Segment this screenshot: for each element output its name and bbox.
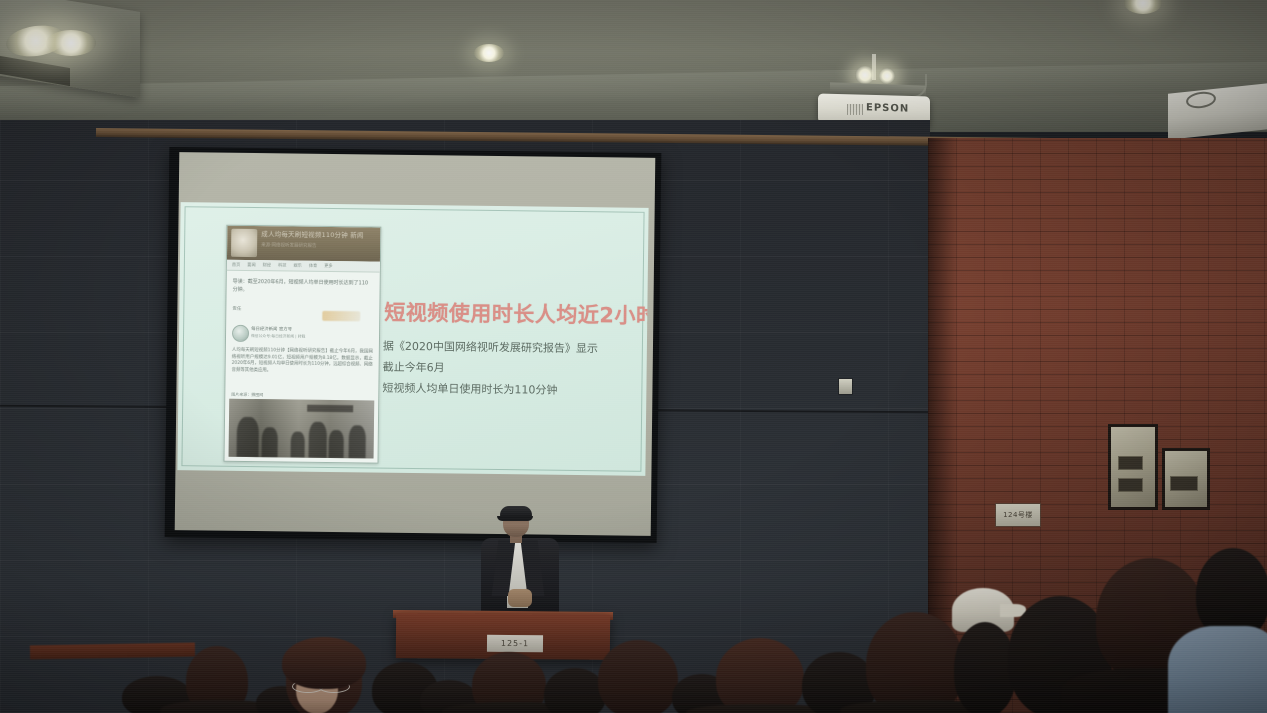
audience-head <box>598 640 678 713</box>
ceiling-light-icon <box>474 44 504 62</box>
news-nav-bar: 首页 要闻 财经 科技 娱乐 体育 更多 <box>227 260 380 273</box>
news-source-avatar-icon <box>232 325 249 342</box>
speaker-hands <box>508 589 532 607</box>
photo-person <box>237 417 259 457</box>
photo-person <box>349 425 366 458</box>
photo-person <box>262 427 278 457</box>
projector-light-icon <box>879 68 895 84</box>
news-nav-item: 首页 <box>232 262 240 268</box>
projector-vent-icon <box>847 104 863 115</box>
presentation-slide: 成人均每天刷短视频110分钟 新闻 来源·网络视听发展研究报告 首页 要闻 财经… <box>177 202 648 476</box>
blue-shirt <box>1168 626 1267 713</box>
audience-head <box>544 668 606 713</box>
seat-back <box>30 643 195 660</box>
news-header-title: 成人均每天刷短视频110分钟 新闻 <box>261 230 377 239</box>
photo-person <box>291 432 305 458</box>
news-lead-text: 导读：截至2020年6月，短视频人均单日使用时长达到了110分钟。 <box>233 278 373 296</box>
news-avatar <box>231 229 257 257</box>
news-header-subtitle: 来源·网络视听发展研究报告 <box>261 243 373 250</box>
news-paragraph: 人均每天刷短视频110分钟【网络视听研究报告】截止今年6月，我国网络视听用户规模… <box>232 348 373 376</box>
projector-light-icon <box>855 66 875 84</box>
news-header-banner: 成人均每天刷短视频110分钟 新闻 来源·网络视听发展研究报告 <box>227 226 380 262</box>
news-photo-caption: 图片来源：摄图网 <box>231 392 263 398</box>
news-signature: 责任 <box>232 306 241 312</box>
news-nav-item: 娱乐 <box>293 263 301 269</box>
wall-socket-plate <box>838 378 853 395</box>
news-article-screenshot: 成人均每天刷短视频110分钟 新闻 来源·网络视听发展研究报告 首页 要闻 财经… <box>223 225 381 464</box>
panel-slot <box>1118 456 1143 470</box>
news-source-block: 每日经济新闻 官方号 微信公众号:每日经济新闻 | 转载 <box>232 325 372 345</box>
news-nav-item: 体育 <box>309 263 317 269</box>
audience-head <box>954 622 1016 713</box>
news-nav-item: 要闻 <box>247 262 255 268</box>
photo-person <box>329 430 344 458</box>
room-number-plaque: 124号楼 <box>995 503 1041 527</box>
audience-head <box>866 612 964 713</box>
podium-number-plate: 125-1 <box>487 635 543 652</box>
news-source-link: 微信公众号:每日经济新闻 | 转载 <box>251 333 305 340</box>
projector-cable <box>895 74 927 98</box>
ceiling-light-icon <box>46 30 96 56</box>
photo-signboard <box>307 405 353 413</box>
news-nav-item: 科技 <box>278 262 286 268</box>
slide-body: 据《2020中国网络视听发展研究报告》显示 截止今年6月 短视频人均单日使用时长… <box>382 336 643 402</box>
news-source-name: 每日经济新闻 官方号 <box>251 326 292 332</box>
slide-body-line: 短视频人均单日使用时长为110分钟 <box>382 378 642 402</box>
news-nav-item: 更多 <box>324 263 332 269</box>
audience-hair <box>282 637 366 689</box>
audience-head <box>716 638 804 713</box>
photo-person <box>309 422 327 458</box>
panel-slot <box>1118 478 1143 492</box>
news-photo <box>229 399 375 459</box>
lecture-hall-photo: EPSON 124号楼 成人均每天刷短视频110分钟 新闻 来源·网络视听发展研… <box>0 0 1267 713</box>
speaker-cap-brim <box>497 516 533 521</box>
panel-slot <box>1170 476 1198 491</box>
news-stamp <box>322 311 360 321</box>
projector-brand-label: EPSON <box>866 102 909 114</box>
slide-title: 短视频使用时长人均近2小时 <box>384 297 634 330</box>
news-nav-item: 财经 <box>263 262 271 268</box>
